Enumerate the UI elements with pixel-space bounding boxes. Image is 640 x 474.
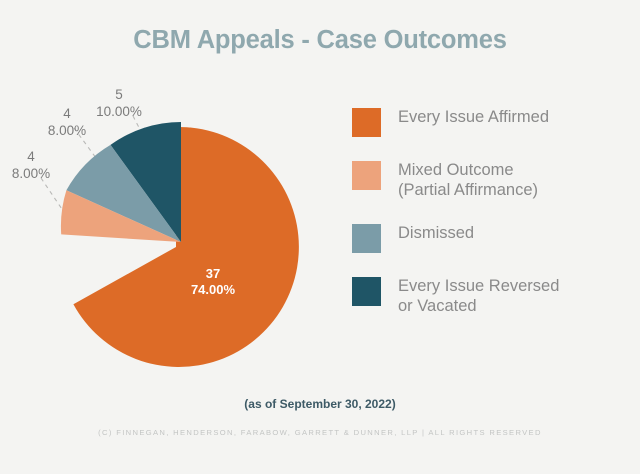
legend-item-label: Every Issue Affirmed xyxy=(398,107,549,127)
slice-label-affirmed-count: 37 xyxy=(206,266,220,281)
legend-swatch-icon xyxy=(352,108,381,137)
legend-item-dismissed[interactable]: Dismissed xyxy=(352,223,636,253)
pie-slices xyxy=(61,122,299,367)
legend-item-label: Dismissed xyxy=(398,223,474,243)
legend-swatch-icon xyxy=(352,161,381,190)
legend-item-mixed-outcome[interactable]: Mixed Outcome (Partial Affirmance) xyxy=(352,160,636,200)
copyright-notice: (C) FINNEGAN, HENDERSON, FARABOW, GARRET… xyxy=(0,428,640,437)
slice-label-affirmed-percent: 74.00% xyxy=(191,282,236,297)
legend-item-label: Every Issue Reversed or Vacated xyxy=(398,276,559,316)
legend-item-label: Mixed Outcome (Partial Affirmance) xyxy=(398,160,538,200)
page-title: CBM Appeals - Case Outcomes xyxy=(0,26,640,55)
slice-label-dismissed-percent: 8.00% xyxy=(48,123,86,138)
legend-item-every-issue-affirmed[interactable]: Every Issue Affirmed xyxy=(352,107,636,137)
slice-label-mixed-count: 4 xyxy=(27,149,35,164)
pie-chart-figure: CBM Appeals - Case Outcomes 37 74.00% 4 … xyxy=(0,0,640,474)
as-of-note: (as of September 30, 2022) xyxy=(0,397,640,411)
legend: Every Issue Affirmed Mixed Outcome (Part… xyxy=(352,107,636,339)
legend-item-every-issue-reversed[interactable]: Every Issue Reversed or Vacated xyxy=(352,276,636,316)
slice-label-dismissed-count: 4 xyxy=(63,106,71,121)
legend-swatch-icon xyxy=(352,277,381,306)
legend-swatch-icon xyxy=(352,224,381,253)
pie-chart-graphic: 37 74.00% 4 8.00% 4 8.00% 5 10.00% xyxy=(0,66,352,386)
slice-label-reversed-count: 5 xyxy=(115,87,123,102)
slice-label-mixed-percent: 8.00% xyxy=(12,166,50,181)
slice-label-reversed-percent: 10.00% xyxy=(96,104,142,119)
